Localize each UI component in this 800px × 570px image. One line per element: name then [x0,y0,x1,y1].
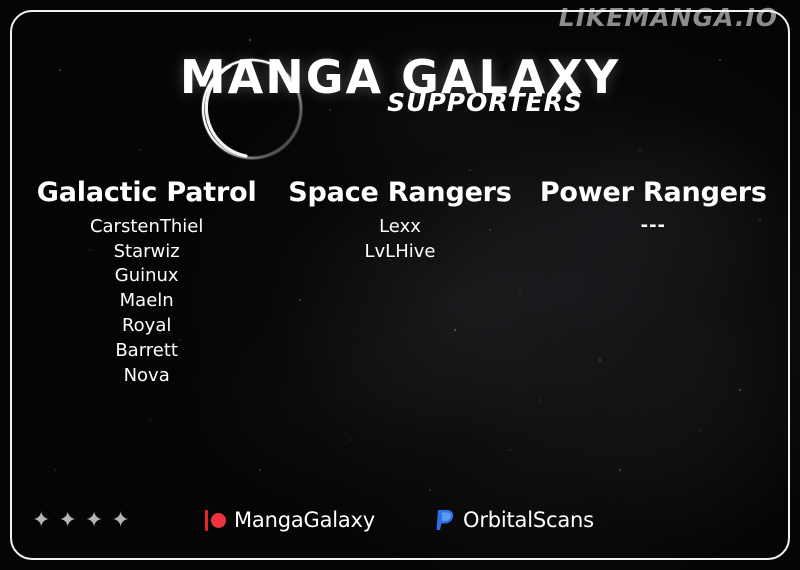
list-item: Starwiz [20,240,273,265]
brand-subtitle: SUPPORTERS [387,88,583,117]
list-item: Maeln [20,289,273,314]
tier-power-rangers: Power Rangers --- [527,178,780,236]
sparkle-decorations: ✦ ✦ ✦ ✦ [32,509,130,533]
header: MANGA GALAXY SUPPORTERS [0,26,800,146]
supporter-list: Lexx LvLHive [273,215,526,265]
supporter-list: CarstenThiel Starwiz Guinux Maeln Royal … [20,215,273,389]
supporters-card: LIKEMANGA.IO MANGA GALAXY SUPPORTERS [0,0,800,570]
sparkle-icon: ✦ [111,509,129,533]
list-item: Guinux [20,264,273,289]
list-item: Barrett [20,339,273,364]
tier-galactic-patrol: Galactic Patrol CarstenThiel Starwiz Gui… [20,178,273,388]
list-item: LvLHive [273,240,526,265]
tier-title: Galactic Patrol [20,178,273,208]
brand: MANGA GALAXY SUPPORTERS [0,26,800,100]
sparkle-icon: ✦ [32,509,50,533]
orbitalscans-logo-label: OrbitalScans [463,508,594,532]
tier-title: Power Rangers [527,178,780,208]
orbitalscans-logo[interactable]: OrbitalScans [432,507,594,533]
empty-placeholder: --- [527,215,780,236]
tier-title: Space Rangers [273,178,526,208]
list-item: Nova [20,364,273,389]
mangagalaxy-mark-icon [203,507,229,533]
footer: ✦ ✦ ✦ ✦ MangaGalaxy OrbitalScans [0,505,800,550]
list-item: CarstenThiel [20,215,273,240]
list-item: Royal [20,314,273,339]
mangagalaxy-logo-label: MangaGalaxy [234,508,375,532]
sparkle-icon: ✦ [85,509,103,533]
tier-space-rangers: Space Rangers Lexx LvLHive [273,178,526,264]
brand-subtitle-wrap: SUPPORTERS [85,88,800,117]
sparkle-icon: ✦ [58,509,76,533]
list-item: Lexx [273,215,526,240]
supporter-tiers: Galactic Patrol CarstenThiel Starwiz Gui… [20,178,780,388]
orbitalscans-mark-icon [432,507,458,533]
mangagalaxy-logo[interactable]: MangaGalaxy [203,507,375,533]
